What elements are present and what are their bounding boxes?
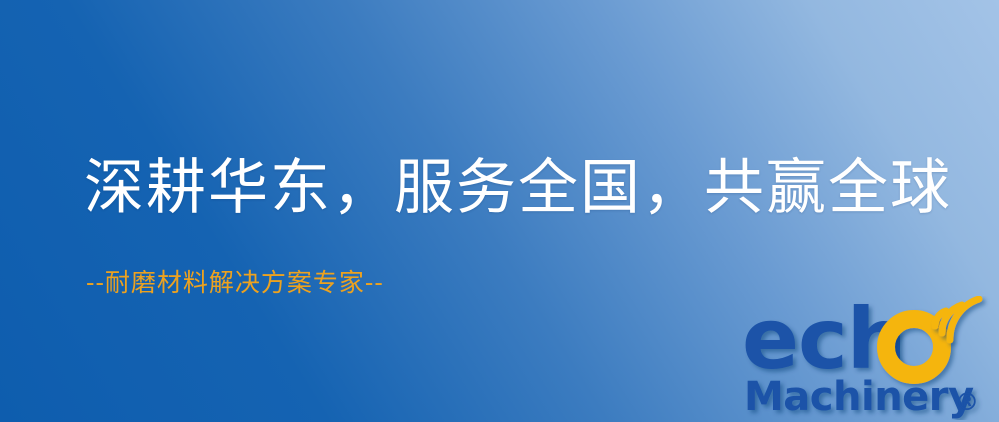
promo-banner: 深耕华东，服务全国，共赢全球 --耐磨材料解决方案专家-- ech	[0, 0, 999, 422]
svg-text:®: ®	[955, 388, 979, 416]
svg-text:Machinery: Machinery	[744, 374, 974, 420]
banner-subtitle: --耐磨材料解决方案专家--	[86, 268, 384, 298]
echo-machinery-logo: ech Machinery ®	[742, 296, 992, 420]
logo-text-machinery: Machinery ®	[744, 374, 979, 420]
signal-arcs-icon	[935, 299, 979, 340]
banner-headline: 深耕华东，服务全国，共赢全球	[84, 155, 952, 222]
